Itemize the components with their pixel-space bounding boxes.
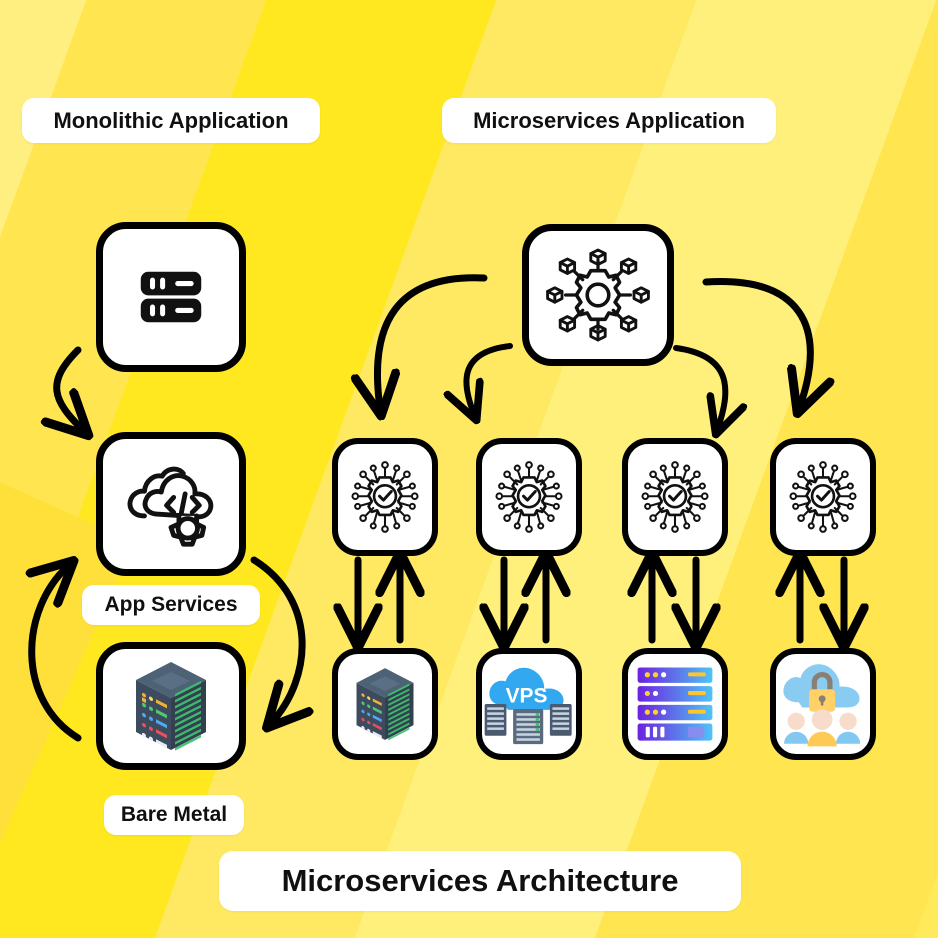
isometric-server-rack-icon	[128, 656, 214, 756]
microservices-hub-icon	[544, 241, 652, 349]
microservice-card-3[interactable]	[622, 438, 728, 556]
infra-card-server-rack[interactable]	[332, 648, 438, 760]
bare-metal-card[interactable]	[96, 642, 246, 770]
monolithic-application-card[interactable]	[96, 222, 246, 372]
infra-card-server-stack[interactable]	[622, 648, 728, 760]
microservice-card-4[interactable]	[770, 438, 876, 556]
label-monolithic-text: Monolithic Application	[53, 108, 288, 134]
isometric-server-rack-icon	[350, 661, 420, 747]
infra-card-vps[interactable]: VPS	[476, 648, 582, 760]
server-database-icon	[129, 255, 213, 339]
vps-cloud-icon: VPS	[483, 662, 575, 746]
microservice-card-1[interactable]	[332, 438, 438, 556]
microservices-hub-card[interactable]	[522, 224, 674, 366]
label-app-services-text: App Services	[104, 593, 237, 617]
microservice-gear-check-icon	[486, 454, 572, 540]
diagram-canvas: VPS	[0, 0, 938, 938]
microservice-gear-check-icon	[780, 454, 866, 540]
infra-card-secure-cloud[interactable]	[770, 648, 876, 760]
diagram-title-text: Microservices Architecture	[282, 863, 679, 899]
microservice-gear-check-icon	[342, 454, 428, 540]
diagram-title: Microservices Architecture	[219, 851, 741, 911]
microservice-card-2[interactable]	[476, 438, 582, 556]
vps-caption: VPS	[506, 684, 548, 707]
label-microservices-application: Microservices Application	[442, 98, 776, 143]
gradient-server-stack-icon	[634, 665, 716, 743]
cloud-code-gear-icon	[118, 457, 224, 551]
label-app-services: App Services	[82, 585, 260, 625]
cloud-lock-users-icon	[778, 660, 868, 748]
microservice-gear-check-icon	[632, 454, 718, 540]
label-monolithic-application: Monolithic Application	[22, 98, 320, 143]
label-bare-metal-text: Bare Metal	[121, 803, 227, 827]
label-bare-metal: Bare Metal	[104, 795, 244, 835]
label-microservices-text: Microservices Application	[473, 108, 745, 134]
app-services-card[interactable]	[96, 432, 246, 576]
